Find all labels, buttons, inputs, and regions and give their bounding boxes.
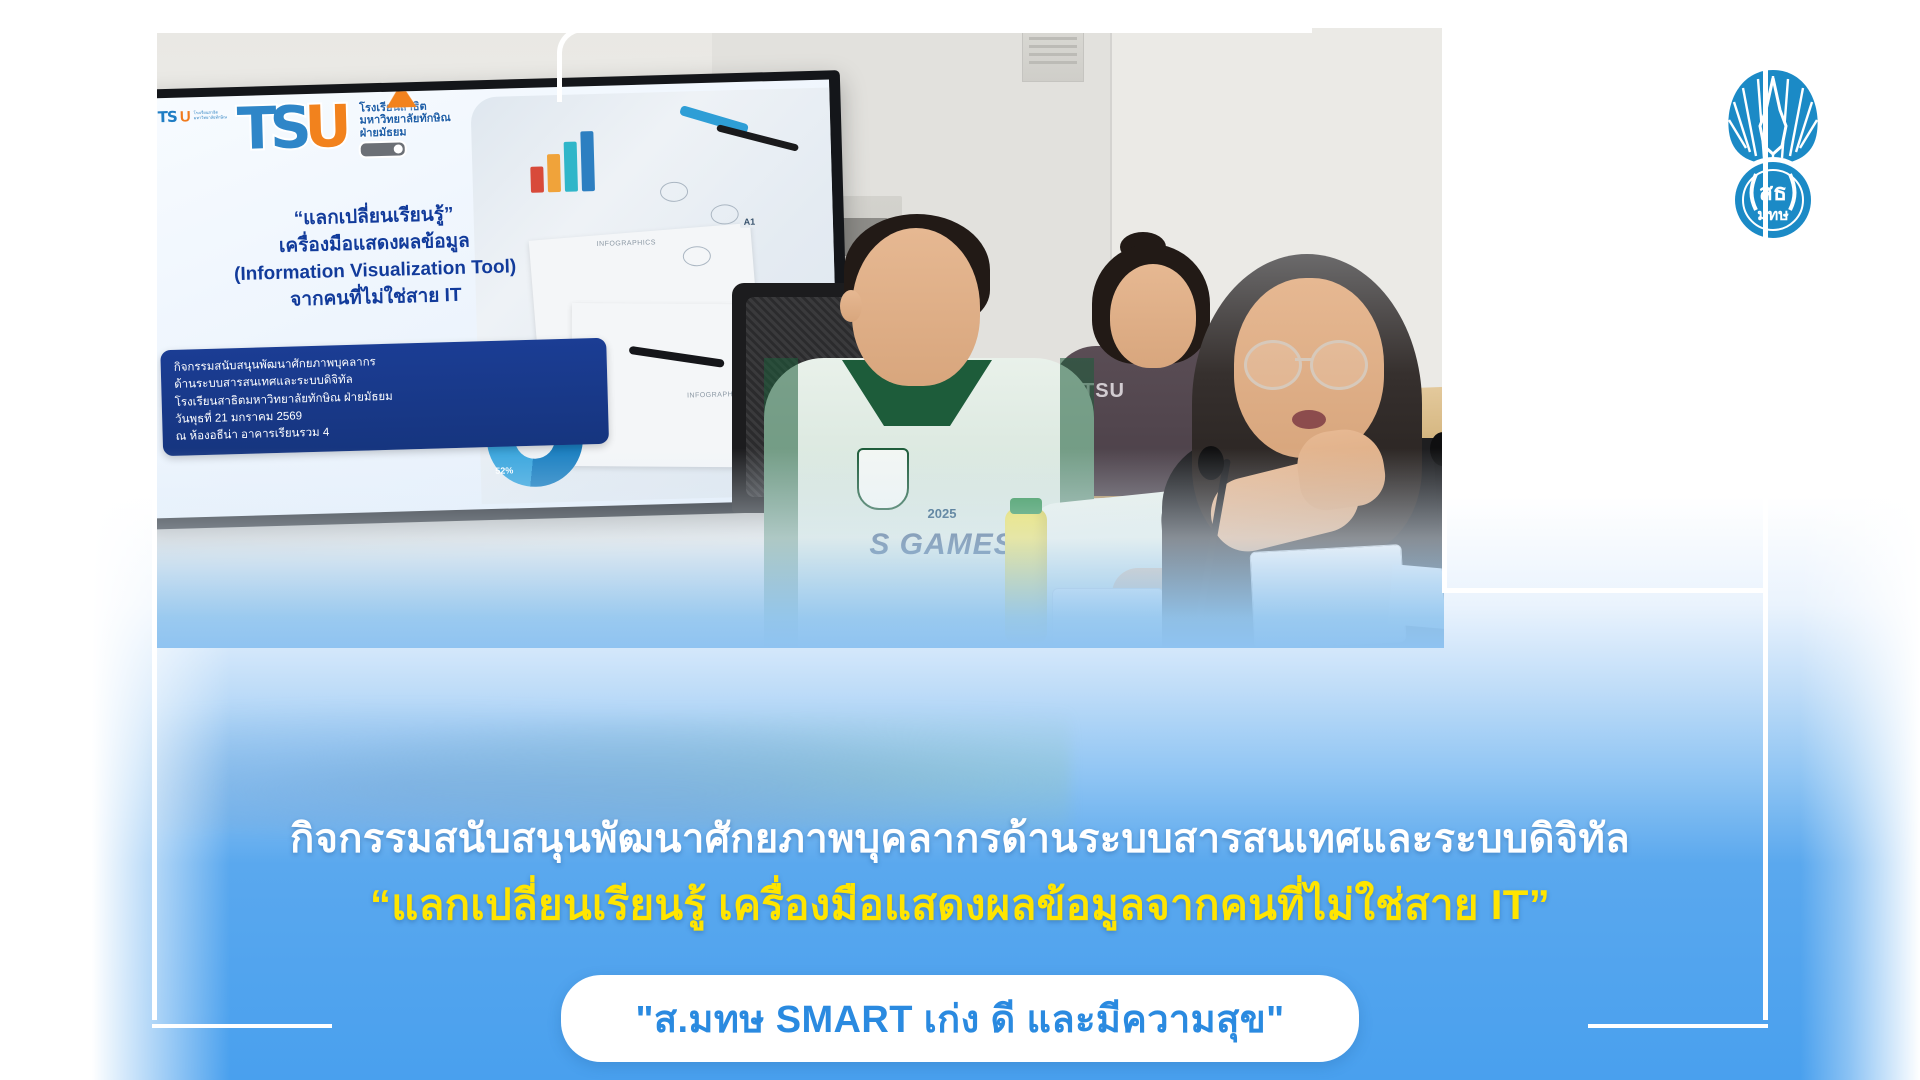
ceiling-vent xyxy=(1022,28,1084,82)
microphone-stem xyxy=(1196,459,1231,618)
jersey-crest xyxy=(857,448,909,510)
slide-logo-thai-3: ฝ่ายมัธยม xyxy=(360,125,452,140)
speaker-polo-collar xyxy=(1272,440,1382,498)
foreground-table xyxy=(912,573,1444,648)
slide-logo-thai-block: โรงเรียนสาธิต มหาวิทยาลัยทักษิณ ฝ่ายมัธย… xyxy=(357,100,452,159)
event-photograph: INFOGRAPHICS INFOGRAPHICS 21% 52% A1 xyxy=(152,28,1444,648)
slogan-badge: "ส.มทษ SMART เก่ง ดี และมีความสุข" xyxy=(561,975,1358,1062)
poster-root: INFOGRAPHICS INFOGRAPHICS 21% 52% A1 xyxy=(0,0,1920,1080)
drink-bottle xyxy=(1005,508,1047,643)
tsu-small-ts: TS xyxy=(158,108,178,127)
student-tablet xyxy=(1052,588,1164,648)
tsu-small-sub: โรงเรียนสาธิต มหาวิทยาลัยทักษิณ xyxy=(194,111,227,121)
slide-chip-label: A1 xyxy=(739,216,759,229)
speaker-mouth xyxy=(1292,410,1326,429)
slide-tsu-small-mark: TS U โรงเรียนสาธิต มหาวิทยาลัยทักษิณ xyxy=(158,106,228,126)
bottle-cap xyxy=(1010,498,1042,514)
jersey-stripe xyxy=(764,358,798,648)
speaker-glasses-right xyxy=(1310,340,1368,390)
speaker-paper xyxy=(1388,564,1444,632)
speaker-tablet xyxy=(1250,544,1407,648)
student-shirt-text: S GAMES xyxy=(792,528,1092,562)
slide-detail-box: กิจกรรมสนับสนุนพัฒนาศักยภาพบุคลากร ด้านร… xyxy=(160,338,609,457)
desk-paper xyxy=(1160,596,1293,648)
tsu-big-ts: TS xyxy=(237,104,306,152)
student-shirt-year: 2025 xyxy=(842,506,1042,521)
slide-title: “แลกเปลี่ยนเรียนรู้” เครื่องมือแสดงผลข้อ… xyxy=(158,198,591,318)
toggle-pill-decoration xyxy=(358,140,406,158)
slide-logo-thai-2: มหาวิทยาลัยทักษิณ xyxy=(359,112,451,127)
speaker-glasses-bridge xyxy=(1295,358,1311,361)
speaker-shirt-logo: TSU xyxy=(1380,480,1409,498)
caption-line-2: “แลกเปลี่ยนเรียนรู้ เครื่องมือแสดงผลข้อม… xyxy=(0,872,1920,938)
student-head xyxy=(852,228,980,386)
jersey-stripe xyxy=(1060,358,1094,648)
speaker-glasses-left xyxy=(1244,340,1302,390)
notebook xyxy=(1192,475,1312,515)
slide-bar-chart xyxy=(529,129,651,192)
student-arm xyxy=(1026,490,1188,625)
slide-tsu-big-mark: TS U xyxy=(237,103,353,153)
microphone-head xyxy=(1198,446,1224,480)
speaker-upper-arm xyxy=(1159,470,1360,643)
svg-text:มทษ: มทษ xyxy=(1757,205,1789,224)
tsu-small-sub-2: มหาวิทยาลัยทักษิณ xyxy=(194,114,227,120)
slide-donut-value-2: 52% xyxy=(495,465,513,475)
microphone-stem xyxy=(1433,448,1444,638)
person-behind-head xyxy=(1110,264,1196,368)
caption-line-1: กิจกรรมสนับสนุนพัฒนาศักยภาพบุคลากรด้านระ… xyxy=(0,806,1920,870)
student-hand xyxy=(1112,568,1192,626)
student-ear xyxy=(840,290,862,322)
tsu-small-u: U xyxy=(180,108,191,125)
microphone-head xyxy=(1430,432,1444,466)
display-power-indicator xyxy=(152,489,156,505)
slide-pen xyxy=(716,124,799,152)
slide-tsu-logo: TS U โรงเรียนสาธิต มหาวิทยาลัยทักษิณ TS … xyxy=(158,100,452,164)
svg-text:สธ: สธ xyxy=(1759,180,1787,206)
tsu-big-u: U xyxy=(304,103,352,151)
tsu-university-emblem: สธ มทษ xyxy=(1698,48,1848,244)
speaker-forearm xyxy=(1203,451,1366,559)
speaker-torso xyxy=(1162,438,1444,648)
slogan-container: "ส.มทษ SMART เก่ง ดี และมีความสุข" xyxy=(0,975,1920,1062)
conference-table-edge xyxy=(752,445,1444,512)
